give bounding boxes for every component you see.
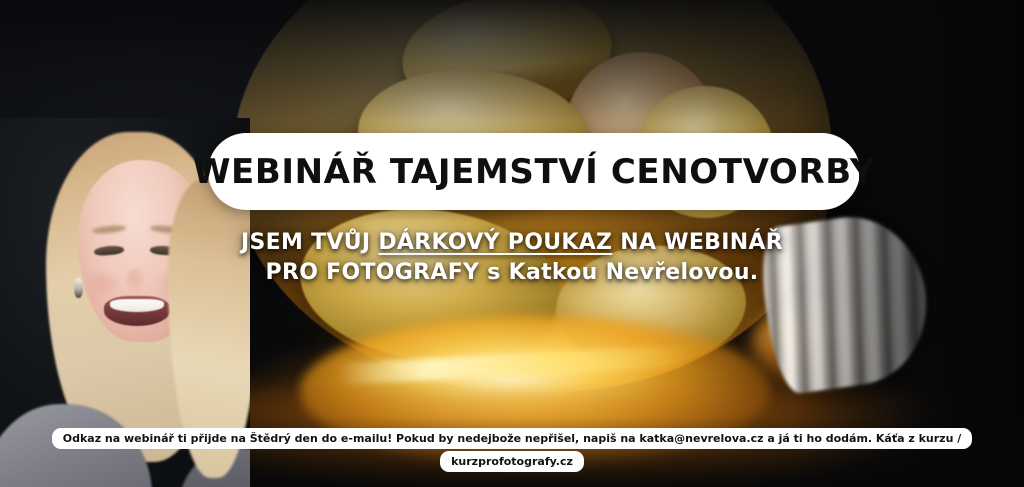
subtitle-line-1-suffix: NA WEBINÁŘ	[612, 230, 783, 255]
subtitle-line-2: PRO FOTOGRAFY s Katkou Nevřelovou.	[0, 258, 1024, 288]
footer-line-2-website[interactable]: kurzprofotografy.cz	[440, 451, 584, 472]
footer-line-1: Odkaz na webinář ti přijde na Štědrý den…	[52, 428, 973, 449]
page-title: WEBINÁŘ TAJEMSTVÍ CENOTVORBY	[193, 152, 875, 192]
title-banner: WEBINÁŘ TAJEMSTVÍ CENOTVORBY	[208, 133, 860, 210]
subtitle-line-1-prefix: JSEM TVŮJ	[241, 230, 378, 255]
webinar-promo-slide: WEBINÁŘ TAJEMSTVÍ CENOTVORBY JSEM TVŮJ D…	[0, 0, 1024, 487]
footer-row-1: Odkaz na webinář ti přijde na Štědrý den…	[0, 428, 1024, 449]
subtitle: JSEM TVŮJ DÁRKOVÝ POUKAZ NA WEBINÁŘ PRO …	[0, 228, 1024, 288]
subtitle-line-1: JSEM TVŮJ DÁRKOVÝ POUKAZ NA WEBINÁŘ	[0, 228, 1024, 258]
footer-note: Odkaz na webinář ti přijde na Štědrý den…	[0, 428, 1024, 472]
presenter-teeth	[110, 299, 164, 312]
footer-row-2: kurzprofotografy.cz	[0, 451, 1024, 472]
subtitle-voucher-emphasis: DÁRKOVÝ POUKAZ	[378, 230, 612, 255]
